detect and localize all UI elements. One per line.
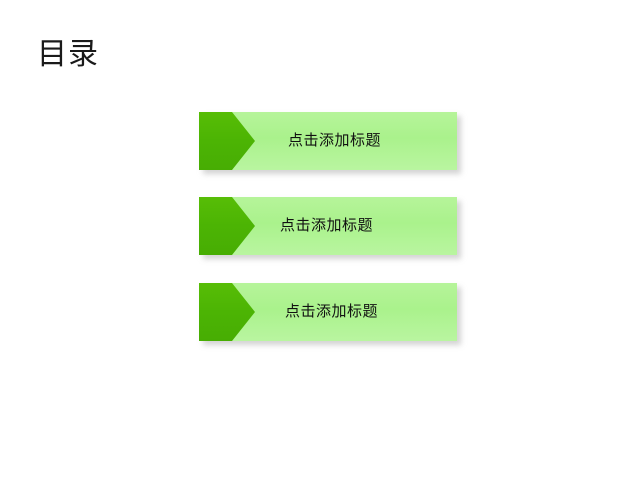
toc-item-label: 点击添加标题	[280, 197, 373, 255]
chevron-arrow-icon	[199, 197, 255, 255]
toc-item-3[interactable]: 点击添加标题	[199, 283, 457, 341]
toc-item-label: 点击添加标题	[288, 112, 381, 170]
chevron-arrow-icon	[199, 283, 255, 341]
table-of-contents-list: 点击添加标题 点击添加标题	[0, 0, 635, 484]
chevron-arrow-icon	[199, 112, 255, 170]
toc-item-label: 点击添加标题	[285, 283, 378, 341]
toc-item-2[interactable]: 点击添加标题	[199, 197, 457, 255]
slide-canvas: 目录 点击添加标题	[0, 0, 635, 484]
toc-item-1[interactable]: 点击添加标题	[199, 112, 457, 170]
